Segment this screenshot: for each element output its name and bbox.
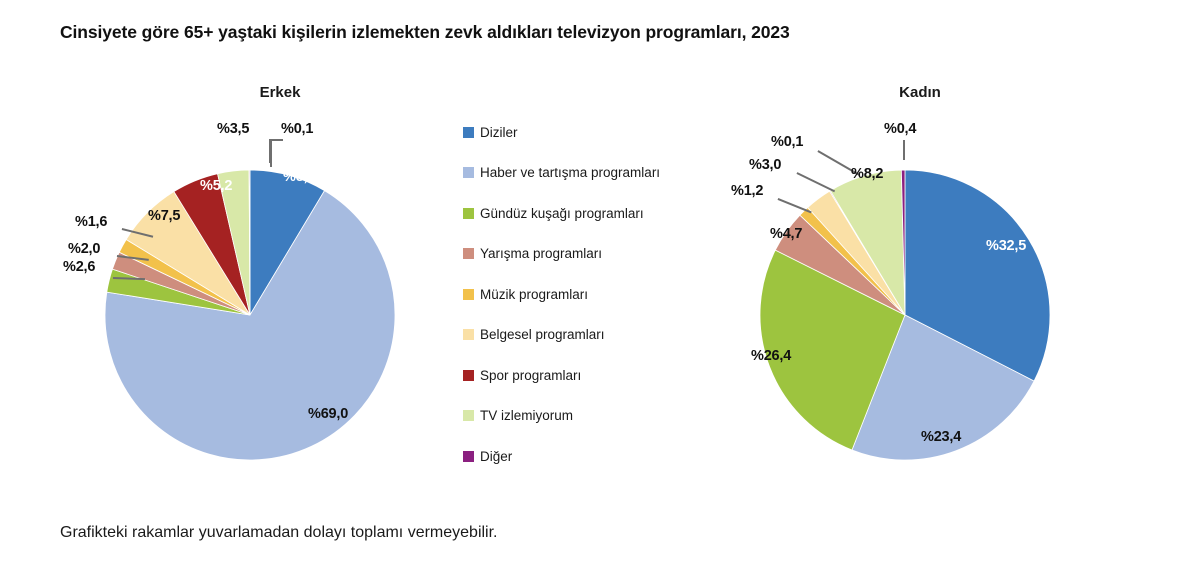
erkek-label-belgesel: %7,5 [148, 208, 180, 224]
page-title: Cinsiyete göre 65+ yaştaki kişilerin izl… [60, 22, 1140, 43]
erkek-label-gunduz: %2,6 [63, 259, 95, 275]
legend-swatch-icon-yarisma [463, 248, 474, 259]
chart-page: Cinsiyete göre 65+ yaştaki kişilerin izl… [0, 0, 1200, 574]
legend-item-tv-izlemiyorum[interactable]: TV izlemiyorum [463, 396, 703, 437]
kadin-label-diziler: %32,5 [986, 238, 1026, 254]
legend-label-tv-izlemiyorum: TV izlemiyorum [480, 409, 573, 423]
pie-chart-erkek [40, 100, 460, 480]
legend-label-yarisma: Yarışma programları [480, 247, 602, 261]
legend-item-belgesel[interactable]: Belgesel programları [463, 315, 703, 356]
kadin-label-belgesel: %3,0 [749, 157, 781, 173]
legend-label-spor: Spor programları [480, 369, 581, 383]
legend-item-haber[interactable]: Haber ve tartışma programları [463, 153, 703, 194]
erkek-label-muzik: %1,6 [75, 214, 107, 230]
legend-swatch-icon-diziler [463, 127, 474, 138]
legend-label-gunduz: Gündüz kuşağı programları [480, 207, 644, 221]
kadin-label-haber: %23,4 [921, 429, 961, 445]
legend-swatch-icon-tv-izlemiyorum [463, 410, 474, 421]
legend-swatch-icon-muzik [463, 289, 474, 300]
kadin-label-yarisma: %4,7 [770, 226, 802, 242]
erkek-leader-diger-v [269, 139, 271, 163]
legend-swatch-icon-belgesel [463, 329, 474, 340]
legend-item-gunduz[interactable]: Gündüz kuşağı programları [463, 193, 703, 234]
kadin-leader-diger [903, 140, 905, 160]
erkek-label-tv-izlemiyorum: %3,5 [217, 121, 249, 137]
kadin-label-gunduz: %26,4 [751, 348, 791, 364]
erkek-label-diziler: %8,6 [283, 169, 315, 185]
erkek-label-diger: %0,1 [281, 121, 313, 137]
erkek-leader-diger-h [269, 139, 283, 141]
legend-item-diger[interactable]: Diğer [463, 436, 703, 477]
legend-item-muzik[interactable]: Müzik programları [463, 274, 703, 315]
legend-swatch-icon-haber [463, 167, 474, 178]
legend-label-muzik: Müzik programları [480, 288, 588, 302]
legend-label-haber: Haber ve tartışma programları [480, 166, 660, 180]
panel-title-kadin: Kadın [820, 84, 1020, 101]
erkek-label-spor: %5,2 [200, 178, 232, 194]
footnote: Grafikteki rakamlar yuvarlamadan dolayı … [60, 524, 498, 542]
legend-label-diziler: Diziler [480, 126, 518, 140]
legend-swatch-icon-diger [463, 451, 474, 462]
legend-swatch-icon-spor [463, 370, 474, 381]
legend-item-spor[interactable]: Spor programları [463, 355, 703, 396]
erkek-label-yarisma: %2,0 [68, 241, 100, 257]
kadin-label-diger: %0,4 [884, 121, 916, 137]
legend-item-yarisma[interactable]: Yarışma programları [463, 234, 703, 275]
legend-swatch-icon-gunduz [463, 208, 474, 219]
legend: Diziler Haber ve tartışma programları Gü… [463, 112, 703, 477]
pie-chart-kadin [720, 100, 1140, 480]
panel-title-erkek: Erkek [180, 84, 380, 101]
legend-item-diziler[interactable]: Diziler [463, 112, 703, 153]
kadin-label-tv-izlemiyorum: %8,2 [851, 166, 883, 182]
legend-label-belgesel: Belgesel programları [480, 328, 605, 342]
erkek-label-haber: %69,0 [308, 406, 348, 422]
legend-label-diger: Diğer [480, 450, 512, 464]
kadin-label-spor: %0,1 [771, 134, 803, 150]
kadin-label-muzik: %1,2 [731, 183, 763, 199]
